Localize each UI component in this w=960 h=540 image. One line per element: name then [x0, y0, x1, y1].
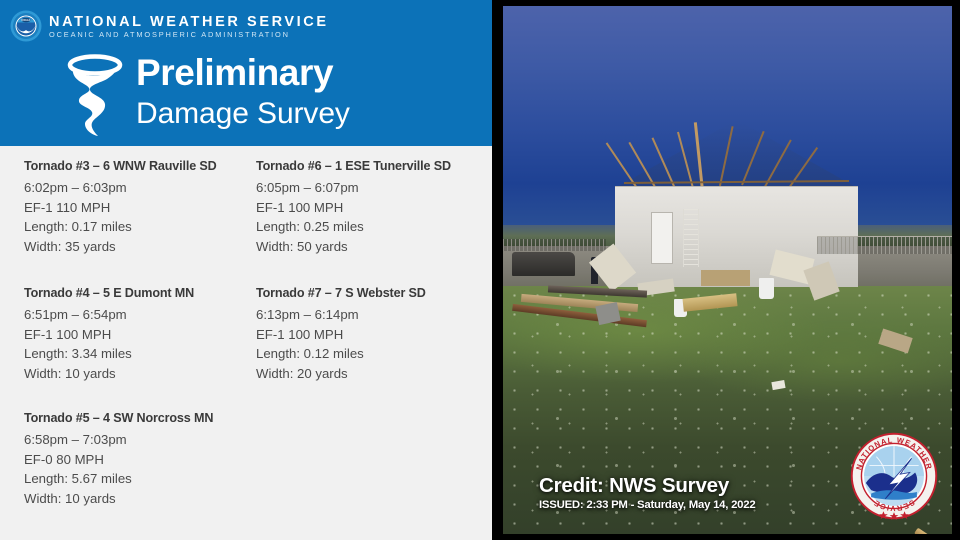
tornado-report-card: Tornado #3 – 6 WNW Rauville SD 6:02pm – …	[24, 159, 254, 256]
preliminary-damage-survey-poster: NOAA NATIONAL WEATHER SERVICE OCEANIC AN…	[0, 0, 960, 540]
tornado-report-width: Width: 20 yards	[256, 364, 486, 384]
tornado-report-time: 6:05pm – 6:07pm	[256, 178, 486, 198]
agency-title-group: NATIONAL WEATHER SERVICE OCEANIC AND ATM…	[49, 13, 329, 40]
tornado-report-length: Length: 0.12 miles	[256, 344, 486, 364]
tornado-report-length: Length: 0.25 miles	[256, 217, 486, 237]
page-title: Preliminary	[136, 52, 350, 94]
left-info-panel: NOAA NATIONAL WEATHER SERVICE OCEANIC AN…	[0, 0, 492, 540]
tornado-reports-list: Tornado #3 – 6 WNW Rauville SD 6:02pm – …	[0, 146, 492, 540]
poster-title-group: Preliminary Damage Survey	[62, 52, 350, 138]
tornado-report-rating: EF-1 100 MPH	[256, 325, 486, 345]
nws-seal-icon: NATIONAL WEATHER SERVICE	[850, 432, 938, 520]
tornado-report-card: Tornado #7 – 7 S Webster SD 6:13pm – 6:1…	[256, 286, 486, 383]
photo-caption: Credit: NWS Survey ISSUED: 2:33 PM - Sat…	[539, 475, 755, 512]
photo-building-door	[651, 212, 673, 264]
tornado-report-heading: Tornado #3 – 6 WNW Rauville SD	[24, 159, 254, 173]
tornado-report-length: Length: 3.34 miles	[24, 344, 254, 364]
photo-bucket	[759, 278, 774, 299]
tornado-report-width: Width: 50 yards	[256, 237, 486, 257]
page-subtitle: Damage Survey	[136, 96, 350, 132]
tornado-report-width: Width: 10 yards	[24, 489, 254, 509]
photo-issued-timestamp: ISSUED: 2:33 PM - Saturday, May 14, 2022	[539, 498, 755, 512]
damage-photo-container: Credit: NWS Survey ISSUED: 2:33 PM - Sat…	[492, 0, 960, 540]
agency-name-primary: NATIONAL WEATHER SERVICE	[49, 14, 329, 30]
tornado-report-heading: Tornado #5 – 4 SW Norcross MN	[24, 411, 254, 425]
tornado-report-rating: EF-1 100 MPH	[24, 325, 254, 345]
tornado-report-width: Width: 35 yards	[24, 237, 254, 257]
photo-fence-right	[817, 236, 952, 254]
agency-branding: NOAA NATIONAL WEATHER SERVICE OCEANIC AN…	[10, 10, 329, 42]
agency-name-secondary: OCEANIC AND ATMOSPHERIC ADMINISTRATION	[49, 30, 329, 40]
photo-credit: Credit: NWS Survey	[539, 475, 755, 497]
damage-photo: Credit: NWS Survey ISSUED: 2:33 PM - Sat…	[503, 6, 952, 534]
header-band: NOAA NATIONAL WEATHER SERVICE OCEANIC AN…	[0, 0, 492, 146]
tornado-report-length: Length: 0.17 miles	[24, 217, 254, 237]
tornado-report-time: 6:51pm – 6:54pm	[24, 305, 254, 325]
tornado-report-card: Tornado #6 – 1 ESE Tunerville SD 6:05pm …	[256, 159, 486, 256]
tornado-report-time: 6:02pm – 6:03pm	[24, 178, 254, 198]
tornado-report-time: 6:13pm – 6:14pm	[256, 305, 486, 325]
photo-debris-piece	[701, 270, 750, 286]
tornado-report-heading: Tornado #6 – 1 ESE Tunerville SD	[256, 159, 486, 173]
tornado-report-width: Width: 10 yards	[24, 364, 254, 384]
tornado-report-length: Length: 5.67 miles	[24, 469, 254, 489]
photo-ladder	[683, 209, 699, 267]
tornado-report-heading: Tornado #4 – 5 E Dumont MN	[24, 286, 254, 300]
tornado-report-card: Tornado #5 – 4 SW Norcross MN 6:58pm – 7…	[24, 411, 254, 508]
photo-fence-left	[503, 239, 606, 251]
tornado-report-rating: EF-1 110 MPH	[24, 198, 254, 218]
tornado-report-time: 6:58pm – 7:03pm	[24, 430, 254, 450]
svg-text:NOAA: NOAA	[21, 18, 30, 22]
tornado-report-heading: Tornado #7 – 7 S Webster SD	[256, 286, 486, 300]
tornado-icon	[62, 54, 124, 138]
tornado-report-rating: EF-1 100 MPH	[256, 198, 486, 218]
photo-vehicle	[512, 252, 575, 276]
tornado-report-rating: EF-0 80 MPH	[24, 450, 254, 470]
tornado-report-card: Tornado #4 – 5 E Dumont MN 6:51pm – 6:54…	[24, 286, 254, 383]
noaa-seal-icon: NOAA	[10, 10, 42, 42]
title-texts: Preliminary Damage Survey	[136, 52, 350, 132]
